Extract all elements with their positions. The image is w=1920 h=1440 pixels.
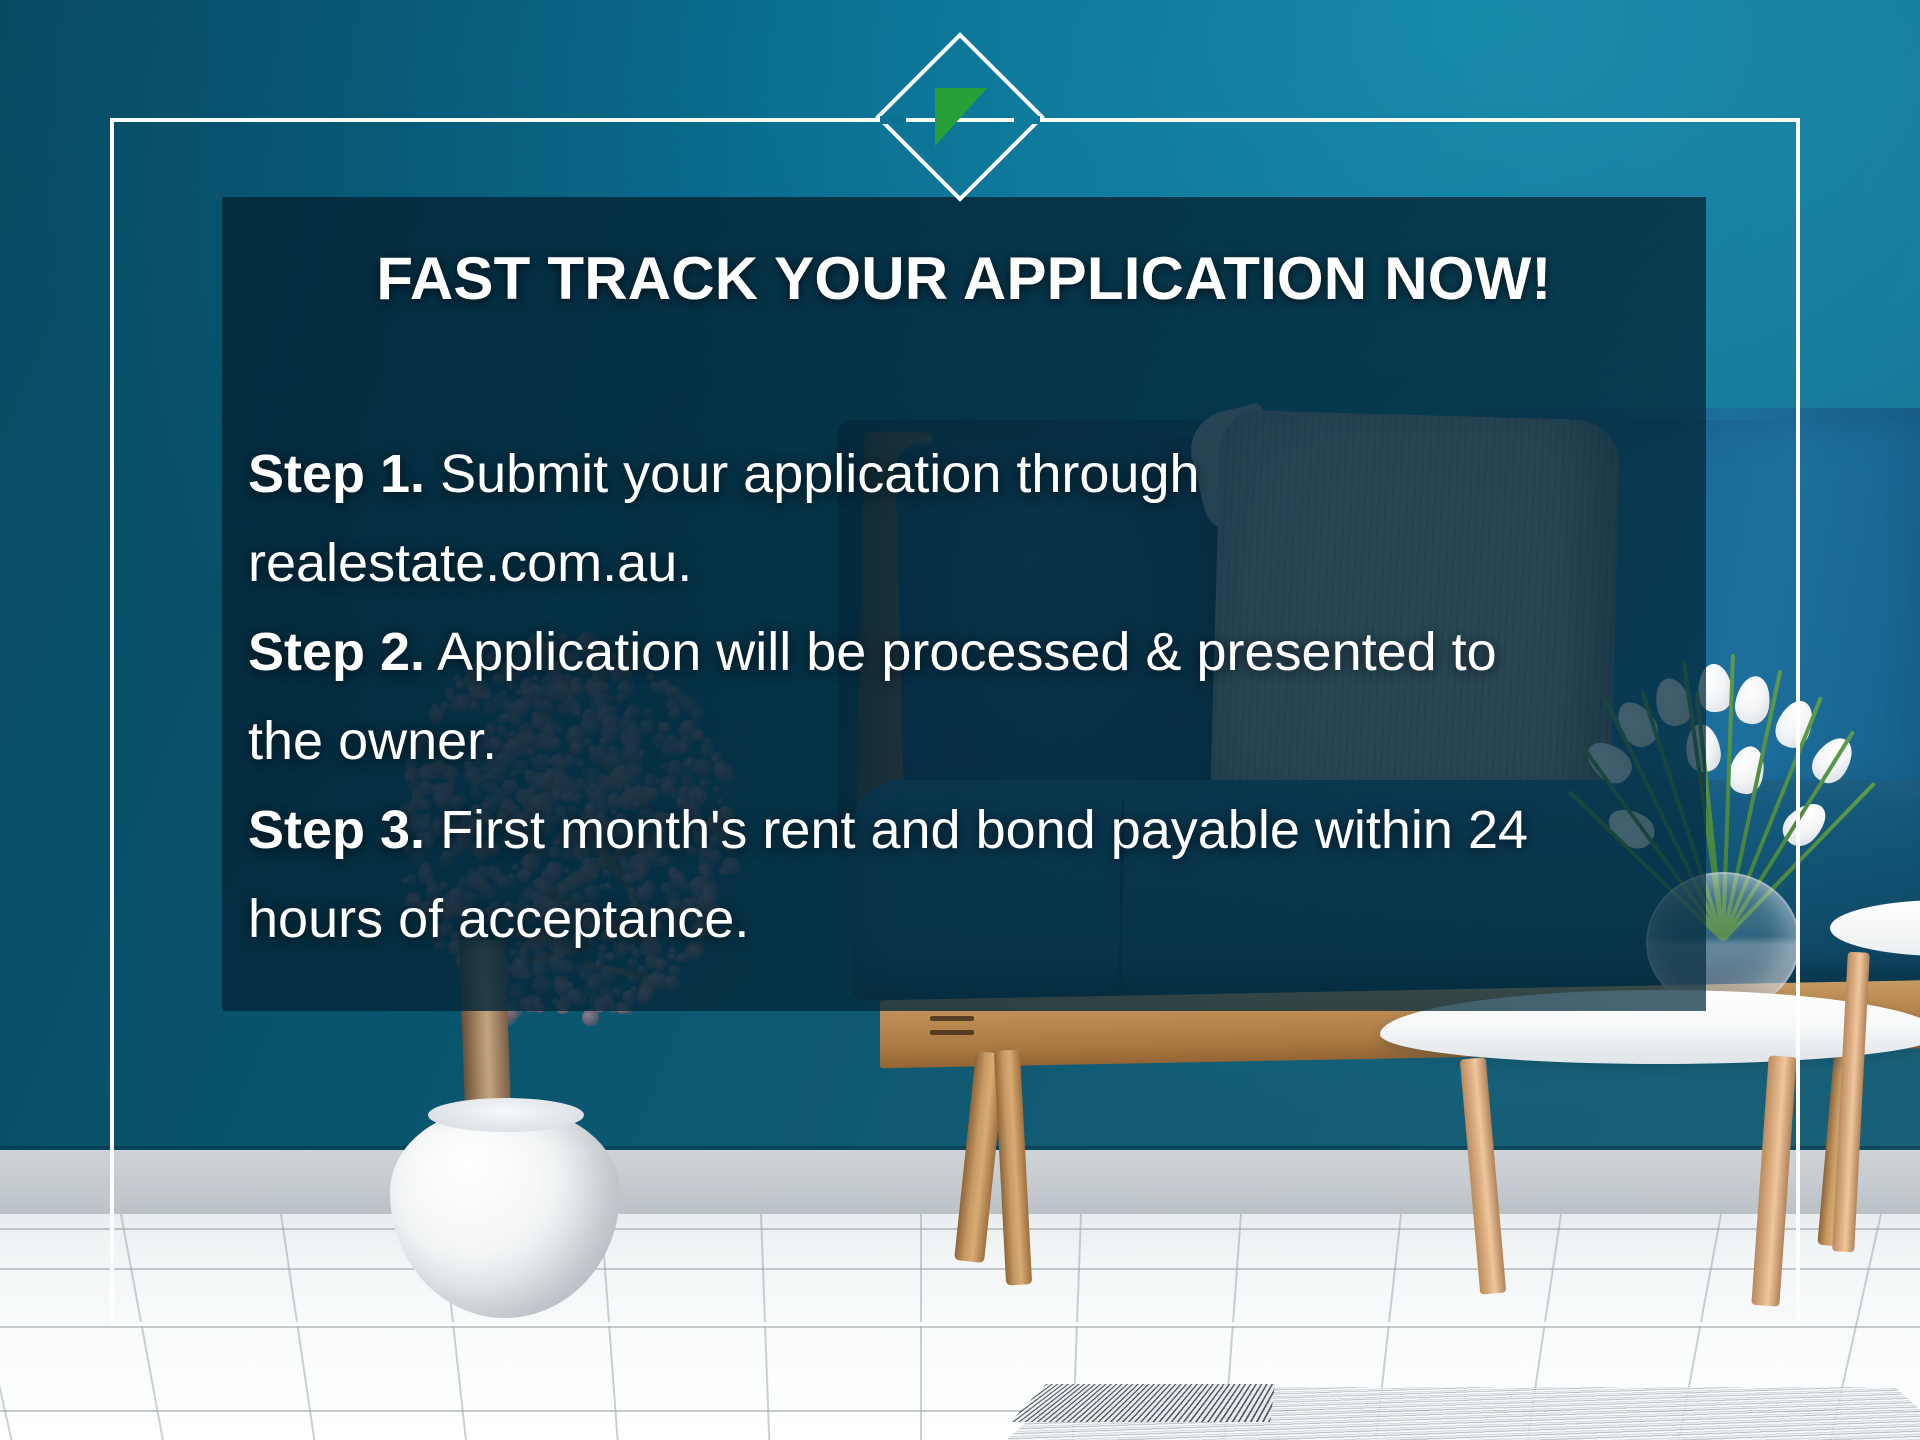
rug-fringe: [1010, 1384, 1275, 1422]
step-label: Step 3.: [248, 800, 425, 860]
sofa-frame-notch: [930, 1016, 974, 1021]
tile-grout-line: [0, 1326, 1920, 1328]
list-item: Step 3. First month's rent and bond paya…: [248, 786, 1568, 964]
step-label: Step 2.: [248, 622, 425, 682]
step-text: Application will be processed & presente…: [248, 622, 1497, 771]
logo-triangle-icon: [935, 88, 987, 146]
list-item: Step 1. Submit your application through …: [248, 430, 1568, 608]
plant-pot-rim: [428, 1098, 584, 1132]
frame-break-right: [1014, 116, 1040, 124]
page-title: FAST TRACK YOUR APPLICATION NOW!: [222, 244, 1706, 313]
tile-grout-line: [920, 1214, 922, 1440]
steps-list: Step 1. Submit your application through …: [248, 430, 1568, 964]
frame-break-left: [880, 116, 906, 124]
step-label: Step 1.: [248, 444, 425, 504]
list-item: Step 2. Application will be processed & …: [248, 608, 1568, 786]
sofa-frame-notch: [930, 1030, 974, 1035]
step-text: First month's rent and bond payable with…: [248, 800, 1528, 949]
poster-root: FAST TRACK YOUR APPLICATION NOW! Step 1.…: [0, 0, 1920, 1440]
